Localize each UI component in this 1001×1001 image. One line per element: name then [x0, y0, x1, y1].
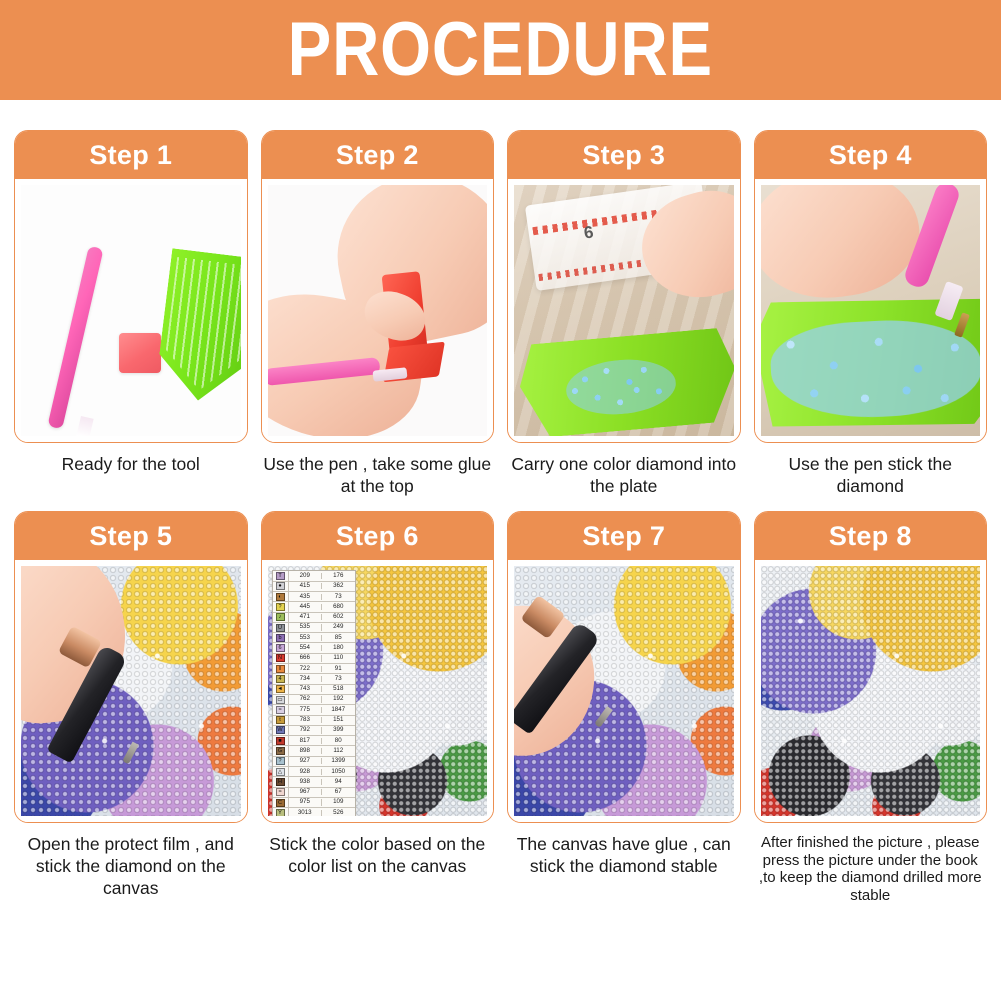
color-count-cell: 109: [322, 799, 355, 805]
color-count-cell: 67: [322, 789, 355, 795]
step-caption-4: Use the pen stick the diamond: [754, 454, 988, 497]
color-chart-row: ‖72291: [273, 664, 355, 674]
color-symbol-icon: ▭: [276, 696, 285, 704]
step-card-5: Step 5 Open the pro: [14, 511, 248, 904]
color-chart-row: C975109: [273, 798, 355, 808]
color-chart-row: ?445680: [273, 602, 355, 612]
color-swatch-cell: ?: [273, 602, 289, 611]
color-swatch-cell: H: [273, 777, 289, 786]
card-6: Step 6 T209176●415362◐43573?445680♪47160…: [261, 511, 495, 823]
color-symbol-icon: T: [276, 572, 285, 580]
color-swatch-cell: U: [273, 623, 289, 632]
color-swatch-cell: 6: [273, 643, 289, 652]
step-photo-1: [21, 185, 241, 436]
color-chart-row: U535249: [273, 623, 355, 633]
step-card-2: Step 2 Use the pen: [261, 130, 495, 497]
color-chart-row: W792399: [273, 726, 355, 736]
color-swatch-cell: b: [273, 633, 289, 642]
step-card-7: Step 7 The canvas h: [507, 511, 741, 904]
color-count-cell: 526: [322, 810, 355, 816]
color-symbol-icon: ●: [276, 582, 285, 590]
color-chart-row: G898112: [273, 746, 355, 756]
procedure-infographic: PROCEDURE Step 1: [0, 0, 1001, 1001]
color-symbol-chart: T209176●415362◐43573?445680♪471602U53524…: [272, 570, 356, 816]
step-photo-8: [761, 566, 981, 816]
color-swatch-cell: △: [273, 767, 289, 776]
color-symbol-icon: ?: [276, 757, 285, 765]
color-symbol-icon: ◐: [276, 593, 285, 601]
color-swatch-cell: ◐: [273, 592, 289, 601]
color-chart-row: T209176: [273, 571, 355, 581]
color-swatch-cell: ≈: [273, 788, 289, 797]
color-code-cell: 775: [289, 707, 323, 713]
steps-grid: Step 1 Ready for the tool: [0, 100, 1001, 904]
step-label-8: Step 8: [829, 523, 912, 550]
step-label-1: Step 1: [89, 142, 172, 169]
color-count-cell: 112: [322, 748, 355, 754]
color-swatch-cell: ●: [273, 582, 289, 591]
color-chart-row: N666110: [273, 654, 355, 664]
color-symbol-icon: ■: [276, 737, 285, 745]
color-symbol-icon: N: [276, 654, 285, 662]
color-code-cell: 967: [289, 789, 323, 795]
color-code-cell: 928: [289, 769, 323, 775]
color-count-cell: 73: [322, 676, 355, 682]
color-code-cell: 762: [289, 696, 323, 702]
step-photo-2: [268, 185, 488, 436]
step-label-3: Step 3: [582, 142, 665, 169]
color-chart-row: ●415362: [273, 582, 355, 592]
color-swatch-cell: C: [273, 798, 289, 807]
color-swatch-cell: t: [273, 716, 289, 725]
step-caption-1: Ready for the tool: [14, 454, 248, 476]
card-body-4: [755, 179, 987, 442]
page-title: PROCEDURE: [288, 12, 713, 88]
color-chart-row: t783151: [273, 716, 355, 726]
color-swatch-cell: ◄: [273, 685, 289, 694]
color-symbol-icon: ♪: [276, 613, 285, 621]
step-caption-5: Open the protect film , and stick the di…: [14, 834, 248, 899]
card-header-6: Step 6: [262, 512, 494, 560]
card-body-5: [15, 560, 247, 822]
step-card-3: Step 3 6: [507, 130, 741, 497]
color-count-cell: 73: [322, 594, 355, 600]
color-chart-row: ?9271399: [273, 757, 355, 767]
color-code-cell: 743: [289, 686, 323, 692]
color-code-cell: 554: [289, 645, 323, 651]
color-symbol-icon: b: [276, 634, 285, 642]
color-code-cell: 666: [289, 655, 323, 661]
color-swatch-cell: ≈: [273, 705, 289, 714]
step-label-2: Step 2: [336, 142, 419, 169]
color-symbol-icon: ≈: [276, 706, 285, 714]
color-count-cell: 91: [322, 666, 355, 672]
color-code-cell: 415: [289, 583, 323, 589]
color-swatch-cell: T: [273, 571, 289, 580]
page-banner: PROCEDURE: [0, 0, 1001, 100]
color-code-cell: 722: [289, 666, 323, 672]
card-header-7: Step 7: [508, 512, 740, 560]
color-chart-row: 6554180: [273, 643, 355, 653]
color-chart-row: b55385: [273, 633, 355, 643]
color-swatch-cell: Y: [273, 808, 289, 816]
color-symbol-icon: W: [276, 726, 285, 734]
color-symbol-icon: ‖: [276, 665, 285, 673]
color-chart-row: ■81780: [273, 736, 355, 746]
color-count-cell: 680: [322, 604, 355, 610]
sparkle-highlights: [761, 566, 981, 816]
card-header-3: Step 3: [508, 131, 740, 179]
color-symbol-icon: C: [276, 799, 285, 807]
step-caption-3: Carry one color diamond into the plate: [507, 454, 741, 497]
color-swatch-cell: 4: [273, 674, 289, 683]
pen-tip-icon: [73, 416, 93, 436]
color-chart-row: ≈96767: [273, 788, 355, 798]
color-code-cell: 471: [289, 614, 323, 620]
color-count-cell: 85: [322, 635, 355, 641]
card-3: Step 3 6: [507, 130, 741, 443]
step-label-7: Step 7: [582, 523, 665, 550]
color-swatch-cell: ?: [273, 757, 289, 766]
card-body-7: [508, 560, 740, 822]
step-photo-6: T209176●415362◐43573?445680♪471602U53524…: [268, 566, 488, 816]
color-code-cell: 535: [289, 624, 323, 630]
card-2: Step 2: [261, 130, 495, 443]
card-body-8: [755, 560, 987, 822]
wax-square-icon: [119, 333, 161, 373]
color-code-cell: 3013: [289, 810, 323, 816]
card-body-3: 6: [508, 179, 740, 442]
color-swatch-cell: ♪: [273, 613, 289, 622]
card-4: Step 4: [754, 130, 988, 443]
color-count-cell: 249: [322, 624, 355, 630]
card-5: Step 5: [14, 511, 248, 823]
color-count-cell: 192: [322, 696, 355, 702]
color-code-cell: 553: [289, 635, 323, 641]
step-caption-6: Stick the color based on the color list …: [261, 834, 495, 877]
color-chart-row: ◄743518: [273, 685, 355, 695]
step-photo-5: [21, 566, 241, 816]
color-swatch-cell: ▭: [273, 695, 289, 704]
color-count-cell: 94: [322, 779, 355, 785]
color-count-cell: 1050: [322, 769, 355, 775]
color-code-cell: 783: [289, 717, 323, 723]
step-label-6: Step 6: [336, 523, 419, 550]
color-chart-row: ◐43573: [273, 592, 355, 602]
color-code-cell: 898: [289, 748, 323, 754]
color-count-cell: 176: [322, 573, 355, 579]
color-chart-row: △9281050: [273, 767, 355, 777]
color-count-cell: 1847: [322, 707, 355, 713]
color-code-cell: 975: [289, 799, 323, 805]
color-count-cell: 602: [322, 614, 355, 620]
card-header-4: Step 4: [755, 131, 987, 179]
step-card-1: Step 1 Ready for the tool: [14, 130, 248, 497]
color-symbol-icon: t: [276, 716, 285, 724]
step-caption-8: After finished the picture , please pres…: [754, 834, 988, 904]
color-symbol-icon: ◄: [276, 685, 285, 693]
card-header-5: Step 5: [15, 512, 247, 560]
color-count-cell: 110: [322, 655, 355, 661]
color-count-cell: 180: [322, 645, 355, 651]
color-swatch-cell: N: [273, 654, 289, 663]
color-code-cell: 445: [289, 604, 323, 610]
color-count-cell: 518: [322, 686, 355, 692]
card-header-1: Step 1: [15, 131, 247, 179]
color-count-cell: 1399: [322, 758, 355, 764]
color-chart-row: ♪471602: [273, 613, 355, 623]
color-swatch-cell: ‖: [273, 664, 289, 673]
card-body-2: [262, 179, 494, 442]
color-swatch-cell: G: [273, 746, 289, 755]
step-caption-7: The canvas have glue , can stick the dia…: [507, 834, 741, 877]
color-code-cell: 927: [289, 758, 323, 764]
card-7: Step 7: [507, 511, 741, 823]
color-symbol-icon: U: [276, 624, 285, 632]
steps-row-top: Step 1 Ready for the tool: [14, 130, 987, 497]
card-header-8: Step 8: [755, 512, 987, 560]
step-card-6: Step 6 T209176●415362◐43573?445680♪47160…: [261, 511, 495, 904]
card-1: Step 1: [14, 130, 248, 443]
color-chart-row: Y3013526: [273, 808, 355, 816]
card-header-2: Step 2: [262, 131, 494, 179]
color-code-cell: 792: [289, 727, 323, 733]
color-swatch-cell: W: [273, 726, 289, 735]
color-symbol-icon: 4: [276, 675, 285, 683]
color-count-cell: 362: [322, 583, 355, 589]
card-body-6: T209176●415362◐43573?445680♪471602U53524…: [262, 560, 494, 822]
color-symbol-icon: ?: [276, 603, 285, 611]
step-caption-2: Use the pen , take some glue at the top: [261, 454, 495, 497]
step-label-4: Step 4: [829, 142, 912, 169]
color-code-cell: 938: [289, 779, 323, 785]
color-count-cell: 151: [322, 717, 355, 723]
steps-row-bottom: Step 5 Open the pro: [14, 511, 987, 904]
hand-icon: [761, 185, 927, 308]
color-code-cell: 734: [289, 676, 323, 682]
step-card-8: Step 8 After finished the picture , plea…: [754, 511, 988, 904]
color-count-cell: 399: [322, 727, 355, 733]
color-symbol-icon: H: [276, 778, 285, 786]
color-symbol-icon: G: [276, 747, 285, 755]
color-code-cell: 209: [289, 573, 323, 579]
color-symbol-icon: 6: [276, 644, 285, 652]
step-photo-4: [761, 185, 981, 436]
color-chart-row: H93894: [273, 777, 355, 787]
color-count-cell: 80: [322, 738, 355, 744]
step-photo-7: [514, 566, 734, 816]
color-symbol-icon: Y: [276, 809, 285, 817]
color-swatch-cell: ■: [273, 736, 289, 745]
pink-pen-icon: [47, 246, 103, 430]
color-code-cell: 435: [289, 594, 323, 600]
color-code-cell: 817: [289, 738, 323, 744]
step-label-5: Step 5: [89, 523, 172, 550]
color-chart-row: ▭762192: [273, 695, 355, 705]
color-chart-row: ≈7751847: [273, 705, 355, 715]
card-8: Step 8: [754, 511, 988, 823]
color-symbol-icon: △: [276, 768, 285, 776]
color-chart-row: 473473: [273, 674, 355, 684]
step-card-4: Step 4 Use the pen stick the diamo: [754, 130, 988, 497]
color-symbol-icon: ≈: [276, 788, 285, 796]
step-photo-3: 6: [514, 185, 734, 436]
card-body-1: [15, 179, 247, 442]
